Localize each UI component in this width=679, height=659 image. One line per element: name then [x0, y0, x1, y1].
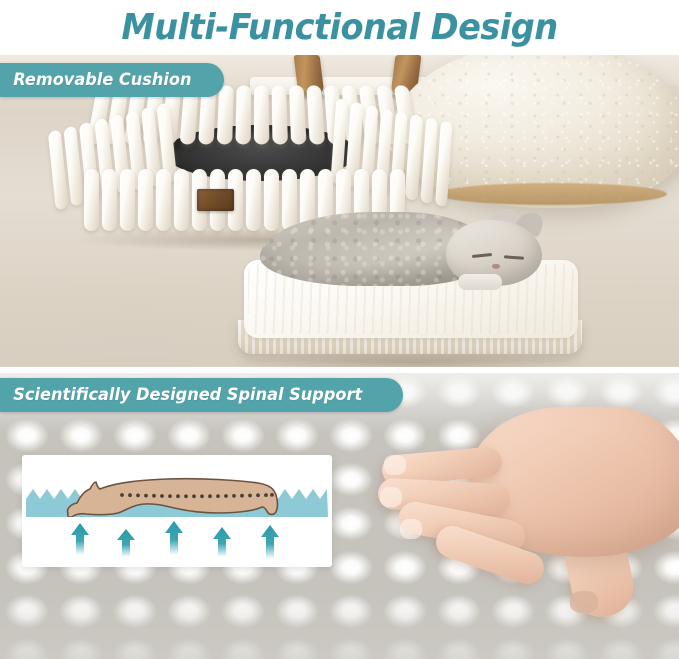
- product-infographic: Multi-Functional Design: [0, 0, 679, 659]
- cat-paw: [458, 274, 502, 290]
- hand-pressing-foam: [372, 403, 679, 653]
- room-scene-photo: [0, 55, 679, 367]
- fingernail: [400, 519, 422, 539]
- fingernail: [380, 487, 402, 507]
- badge-label: Scientifically Designed Spinal Support: [0, 385, 383, 405]
- cat-nose-icon: [492, 264, 500, 269]
- header-bar: Multi-Functional Design: [0, 0, 679, 55]
- plush-mat-with-cat: [236, 260, 586, 367]
- sleeping-cat: [260, 198, 552, 290]
- badge-label: Removable Cushion: [0, 70, 212, 90]
- mat-shadow: [236, 352, 586, 367]
- badge-removable-cushion: Removable Cushion: [0, 63, 224, 97]
- panel-spinal-support: Scientifically Designed Spinal Support: [0, 373, 679, 659]
- page-title: Multi-Functional Design: [121, 7, 557, 48]
- foam-scene-photo: [0, 373, 679, 659]
- brand-tag: [197, 189, 234, 211]
- fingernail: [384, 455, 406, 475]
- badge-spinal-support: Scientifically Designed Spinal Support: [0, 378, 403, 412]
- panel-removable-cushion: Removable Cushion: [0, 55, 679, 367]
- diagram-svg: [22, 455, 332, 567]
- spinal-support-diagram: [22, 455, 332, 567]
- thumbnail: [570, 591, 598, 613]
